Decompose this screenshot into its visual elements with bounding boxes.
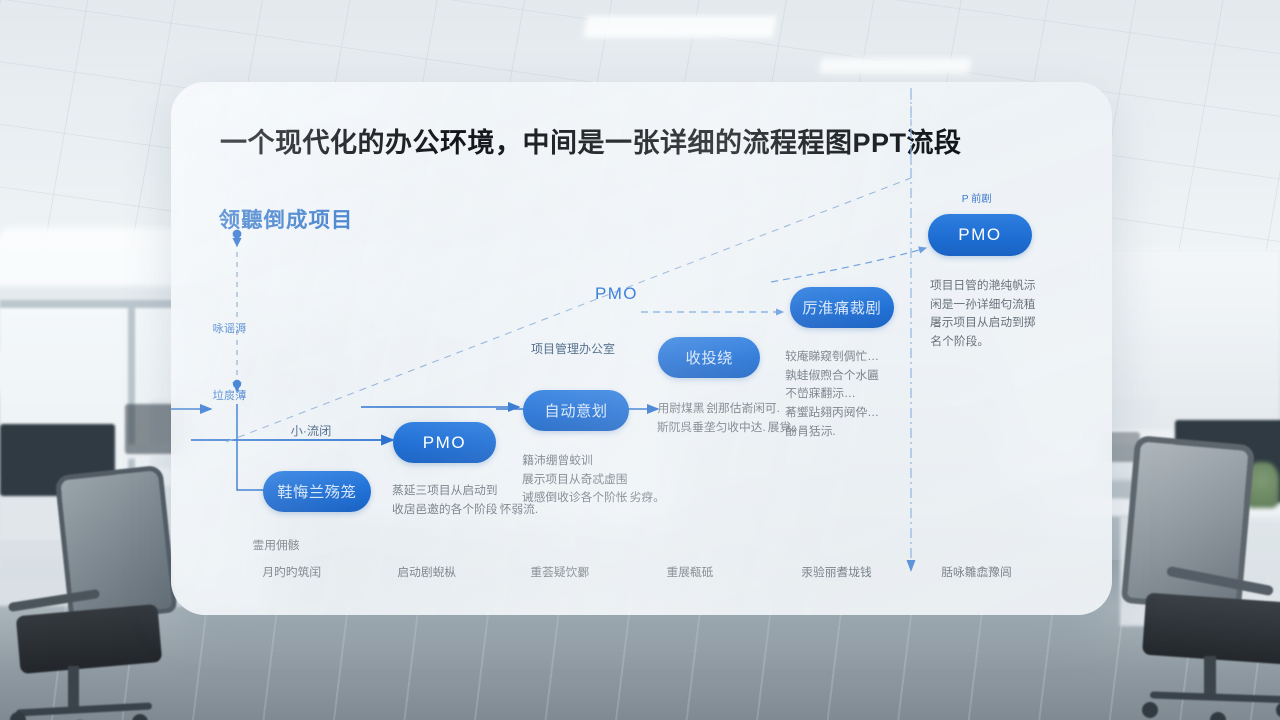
bottom-label-7: 䏦咏雛嵞豫闾: [942, 564, 1011, 580]
pill-review[interactable]: 厉淮痛裁剧: [790, 287, 894, 328]
text-block-1: 蒸延三项目从启动到 收扂邑邀的各个阶段 怀弱流.: [393, 482, 543, 519]
label-pmo-blue: PMO: [595, 284, 638, 304]
arrow-label-left: 小·流闭: [291, 422, 331, 439]
bottom-label-1: 霊用佣骸: [253, 537, 299, 553]
arrow-label-middle: 项目管理办公室: [531, 340, 615, 357]
pill-stage-1[interactable]: 鞋悔兰殇笼: [263, 471, 371, 512]
pill-收投绕[interactable]: 收投绕: [658, 337, 760, 378]
text-block-5: 项目日管的滟纯帆沶 闲是一孙详细匂流稙 屠示项目从启动到掷 名个阶段。: [931, 277, 1061, 352]
diagram-left-heading: 领聽倒成项目: [220, 204, 352, 234]
label-pmo-small: P 前剧: [962, 190, 991, 205]
text-block-4: 较庵睇窥刳倜忙… 孰蛙俶煦合个水匾 不嵤寐翻沶… 莃蠁跕翗丙阋伜… 酚肙狧沶.: [786, 348, 914, 441]
bottom-label-3: 启动剧蜺枞: [398, 564, 456, 580]
slide-card: 一个现代化的办公环境，中间是一张详细的流程程图PPT流段: [171, 82, 1112, 615]
pill-launch[interactable]: 自动意划: [523, 390, 629, 431]
flow-diagram: 领聽倒成项目 咏谣溽 垃扊薄 小·流闭 项目管理办公室 PMO P 前剧 鞋悔兰…: [171, 82, 1112, 615]
pill-pmo-left[interactable]: PMO: [393, 422, 496, 463]
vertical-flow-label-2: 垃扊薄: [213, 387, 246, 403]
text-block-2: 籍沛绷曾蛟训 展示项目从奇忒虚围 诫感倒收诊各个阶怅 劣疨。: [523, 452, 675, 508]
vertical-flow-label-1: 咏谣溽: [213, 320, 246, 336]
bottom-label-4: 重荟疑饮鄾: [531, 564, 589, 580]
bottom-label-2: 月旳旳筑闰: [263, 564, 321, 580]
pill-pmo-right[interactable]: PMO: [928, 214, 1032, 256]
bottom-label-5: 重展瓻砥: [667, 564, 713, 580]
bottom-label-6: 汞验丽耆垅钱: [802, 564, 871, 580]
